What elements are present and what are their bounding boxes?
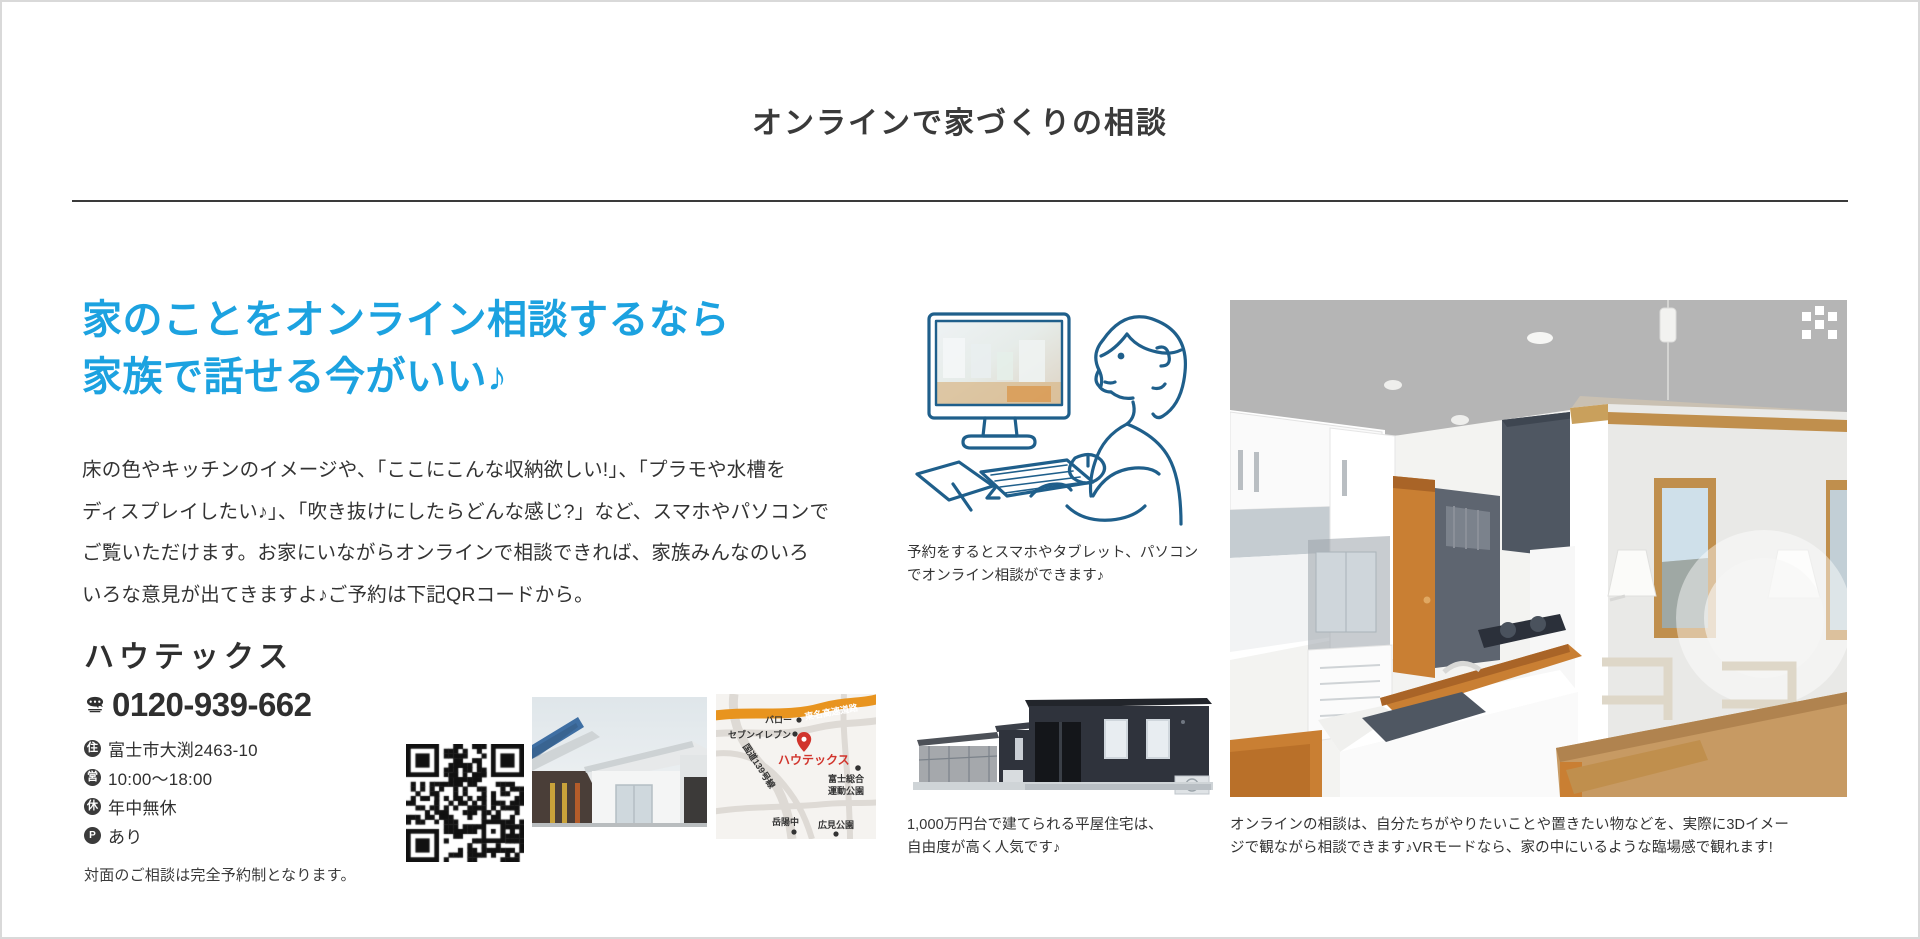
body-line-4: いろな意見が出てきますよ♪ご予約は下記QRコードから。 [82, 575, 842, 617]
illustration-caption-line-2: でオンライン相談ができます♪ [907, 565, 1217, 588]
illustration-caption: 予約をするとスマホやタブレット、パソコン でオンライン相談ができます♪ [907, 542, 1217, 589]
map-label-seven-eleven: セブンイレブン [728, 729, 791, 740]
flat-house-photo-image [907, 692, 1222, 797]
person-at-computer-icon [907, 282, 1207, 527]
qr-code-canvas [406, 744, 524, 862]
flat-house-photo [907, 692, 1222, 797]
map-label-housetechs: ハウテックス [778, 753, 850, 767]
holiday-text: 年中無休 [108, 794, 177, 819]
header: オンラインで家づくりの相談 [2, 2, 1918, 202]
map-label-valor: バロー [765, 715, 792, 725]
left-column: 家のことをオンライン相談するなら 家族で話せる今がいい♪ 床の色やキッチンのイメ… [82, 292, 842, 617]
info-row-parking: P あり [84, 823, 414, 848]
body-paragraph: 床の色やキッチンのイメージや、「ここにこんな収納欲しい!」、「プラモや水槽を デ… [82, 450, 842, 618]
header-divider [72, 200, 1848, 202]
parking-text: あり [108, 823, 142, 848]
map-label-fuji-park-2: 運動公園 [828, 785, 864, 796]
location-map[interactable]: 東名高速道路 国道139号線 バロー セブンイレブン ハウテックス 富士総合 運… [716, 694, 876, 839]
render-caption-line-1: オンラインの相談は、自分たちがやりたいことや置きたい物などを、実際に3Dイメー [1230, 814, 1855, 837]
house-caption-line-2: 自由度が高く人気です♪ [907, 837, 1227, 860]
interior-3d-render [1230, 300, 1847, 797]
address-text: 富士市大渕2463-10 [108, 736, 258, 761]
interior-3d-render-image [1230, 300, 1847, 797]
phone-number: 0120-939-662 [112, 686, 312, 724]
info-row-hours: 営 10:00〜18:00 [84, 765, 414, 790]
map-label-gakuyo-jhs: 岳陽中 [772, 816, 799, 827]
company-name: ハウテックス [84, 632, 414, 676]
body-line-1: 床の色やキッチンのイメージや、「ここにこんな収納欲しい!」、「プラモや水槽を [82, 450, 842, 492]
lead-headline: 家のことをオンライン相談するなら 家族で話せる今がいい♪ [82, 292, 842, 406]
parking-badge-icon: P [84, 827, 101, 844]
map-label-hiromi-park: 広見公園 [817, 819, 854, 830]
company-info-list: 住 富士市大渕2463-10 営 10:00〜18:00 休 年中無休 P あり [84, 736, 414, 848]
hours-text: 10:00〜18:00 [108, 765, 212, 790]
holiday-badge-icon: 休 [84, 798, 101, 815]
render-caption: オンラインの相談は、自分たちがやりたいことや置きたい物などを、実際に3Dイメー … [1230, 814, 1855, 861]
phone-row[interactable]: 0120-939-662 [84, 686, 414, 724]
house-exterior-thumbnail-image [532, 697, 707, 827]
house-photo-caption: 1,000万円台で建てられる平屋住宅は、 自由度が高く人気です♪ [907, 814, 1227, 861]
lead-line-2: 家族で話せる今がいい♪ [82, 349, 842, 406]
body-line-2: ディスプレイしたい♪」、「吹き抜けにしたらどんな感じ?」など、スマホやパソコンで [82, 492, 842, 534]
telephone-icon [84, 694, 106, 716]
address-badge-icon: 住 [84, 740, 101, 757]
info-row-address: 住 富士市大渕2463-10 [84, 736, 414, 761]
hours-badge-icon: 営 [84, 769, 101, 786]
render-caption-line-2: ジで観ながら相談できます♪VRモードなら、家の中にいるような臨場感で観れます! [1230, 837, 1855, 860]
info-row-holiday: 休 年中無休 [84, 794, 414, 819]
company-info: ハウテックス 0120-939-662 住 富士市大渕2463-10 営 10:… [84, 632, 414, 885]
reservation-note: 対面のご相談は完全予約制となります。 [84, 864, 414, 885]
lead-line-1: 家のことをオンライン相談するなら [82, 292, 842, 349]
page-title: オンラインで家づくりの相談 [2, 98, 1918, 142]
flyer-page: オンラインで家づくりの相談 家のことをオンライン相談するなら 家族で話せる今がい… [0, 0, 1920, 939]
location-map-graphic: 東名高速道路 国道139号線 バロー セブンイレブン ハウテックス 富士総合 運… [716, 694, 876, 839]
map-label-fuji-park-1: 富士総合 [828, 773, 865, 784]
house-exterior-thumbnail [532, 697, 707, 827]
body-line-3: ご覧いただけます。お家にいながらオンラインで相談できれば、家族みんなのいろ [82, 533, 842, 575]
house-caption-line-1: 1,000万円台で建てられる平屋住宅は、 [907, 814, 1227, 837]
qr-code[interactable] [406, 744, 524, 862]
middle-column: 予約をするとスマホやタブレット、パソコン でオンライン相談ができます♪ [907, 282, 1217, 589]
illustration-caption-line-1: 予約をするとスマホやタブレット、パソコン [907, 542, 1217, 565]
